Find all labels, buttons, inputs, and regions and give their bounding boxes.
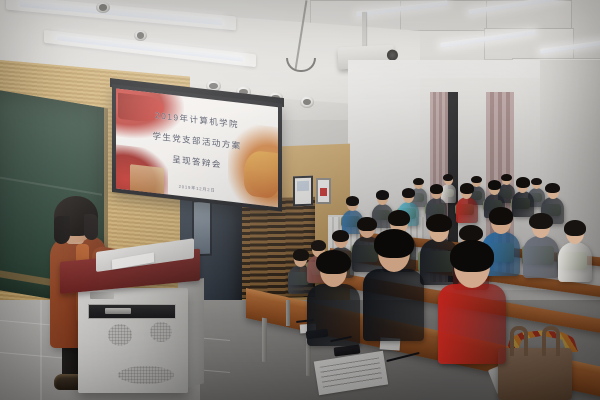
person-hair — [346, 196, 360, 206]
person-torso — [523, 236, 559, 278]
podium-equipment-panel[interactable] — [88, 304, 176, 319]
lecture-hall-photo: 2019年计算机学院 学生党支部活动方案 呈现答辩会 2019年12月2日 — [0, 0, 600, 400]
person-hair — [316, 250, 350, 275]
person-torso — [456, 197, 478, 223]
person-hair — [471, 176, 482, 184]
person-hair — [564, 220, 586, 236]
person-hair — [430, 184, 444, 194]
person-hair — [388, 210, 410, 226]
person-hair — [450, 240, 494, 272]
person-hair — [332, 230, 349, 242]
audience-person — [438, 240, 506, 352]
handbag — [498, 348, 572, 400]
person-torso — [363, 269, 424, 341]
person-hair — [545, 183, 560, 194]
audience-person — [558, 220, 592, 276]
person-torso — [438, 284, 506, 364]
person-hair — [426, 214, 451, 232]
person-hair — [489, 207, 513, 225]
podium-logo — [90, 292, 114, 299]
person-hair — [529, 213, 552, 230]
desk-leg — [286, 300, 290, 326]
person-hair — [374, 229, 414, 258]
bag-handle — [542, 326, 560, 356]
person-hair — [413, 178, 424, 186]
person-torso — [307, 284, 360, 346]
podium-vent — [118, 366, 174, 384]
person-hair — [488, 180, 502, 190]
audience-person — [523, 213, 559, 272]
bag-handle — [510, 326, 528, 356]
person-hair — [516, 177, 530, 187]
person-hair — [459, 225, 482, 242]
audience-person — [307, 250, 360, 337]
speaker-hair-side — [84, 214, 98, 240]
person-torso — [558, 242, 592, 282]
podium-vent — [150, 322, 172, 342]
person-hair — [460, 183, 474, 193]
speaker-hair-side — [54, 216, 70, 244]
audience-person — [456, 183, 478, 219]
podium-vent — [108, 324, 132, 346]
desk-leg — [262, 318, 267, 363]
person-hair — [402, 188, 416, 198]
audience-person — [363, 229, 424, 330]
person-hair — [376, 190, 389, 200]
